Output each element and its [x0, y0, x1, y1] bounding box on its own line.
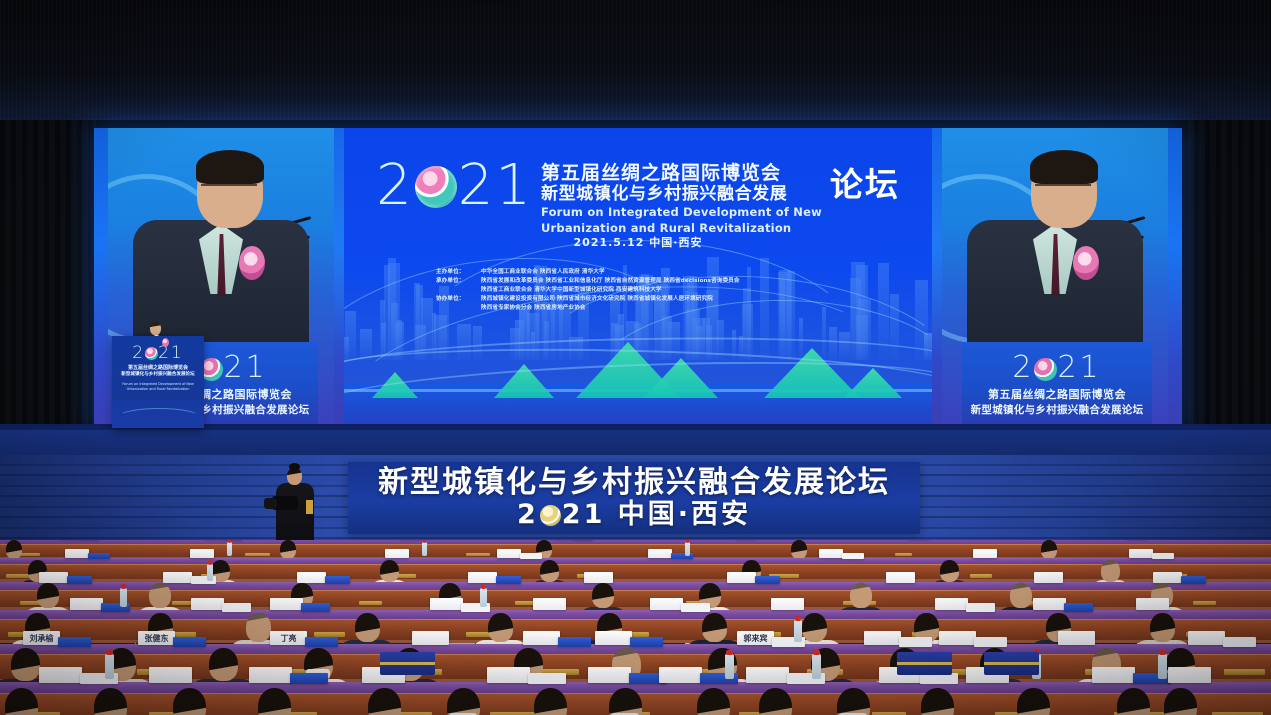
attendee-head	[488, 613, 513, 642]
attendee-head	[592, 583, 614, 608]
attendee-head	[850, 583, 872, 608]
document-folder	[1064, 603, 1093, 612]
speaker-hair	[1030, 150, 1098, 184]
attendee-head	[1010, 583, 1032, 608]
document-folder	[496, 576, 521, 584]
speaker-boutonniere	[1073, 246, 1099, 280]
photographer-hair-bun	[289, 463, 300, 471]
gift-box	[897, 652, 952, 675]
placard-blank-2	[39, 667, 82, 683]
placard-blank	[533, 598, 566, 610]
placard-blank	[1058, 631, 1095, 645]
document-folder	[88, 553, 110, 559]
placard-blank	[468, 572, 497, 583]
water-bottle	[725, 654, 734, 679]
english-title-2: Urbanization and Rural Revitalization	[541, 222, 822, 236]
podium-graphic-right: 221 第五届丝绸之路国际博览会 新型城镇化与乡村振兴融合发展论坛	[962, 342, 1152, 428]
document-folder	[630, 637, 663, 647]
water-bottle	[1158, 654, 1167, 679]
silk-road-emblem-icon	[540, 505, 561, 526]
led-stage-wall: 221 第五届丝绸之路国际博览会 新型城镇化与乡村振兴融合发展论坛 221 第五…	[94, 128, 1182, 428]
camera-lens-icon	[264, 498, 277, 509]
document-folder	[325, 576, 350, 584]
stage-curtain-left	[0, 120, 96, 460]
placard-blank	[886, 572, 915, 583]
stage-front-banner: 新型城镇化与乡村振兴融合发展论坛 221 中国·西安	[348, 462, 920, 534]
water-bottle	[794, 620, 802, 642]
attendee-head	[380, 560, 399, 582]
attendee-head	[940, 560, 959, 582]
placard-blank	[588, 667, 631, 683]
attendee-head	[6, 540, 22, 559]
paper-sheet	[681, 603, 710, 612]
attendee-head	[697, 688, 730, 715]
date-location-line: 2021.5.12 中国·西安	[344, 234, 932, 250]
placard-blank	[297, 572, 326, 583]
attendee-head	[1041, 540, 1057, 559]
podium-title-right-1: 第五届丝绸之路国际博览会	[962, 386, 1152, 402]
organizer-value: 陕西省发展和改革委员会 陕西省工业和信息化厅 陕西省自然资源管理局 陕西省dec…	[481, 277, 740, 286]
document-folder	[558, 637, 591, 647]
attendee-head	[173, 688, 206, 715]
document-folder	[173, 637, 206, 647]
placard-blank	[650, 598, 683, 610]
ceiling	[0, 0, 1271, 132]
document-folder	[1181, 576, 1206, 584]
placard-blank	[385, 549, 409, 558]
banner-year-pre: 2	[517, 499, 539, 530]
attendee-head	[149, 583, 171, 608]
organizer-line: 承办单位：陕西省发展和改革委员会 陕西省工业和信息化厅 陕西省自然资源管理局 陕…	[436, 277, 892, 286]
attendee-head	[209, 648, 238, 681]
placard-liu: 刘承榆	[23, 631, 60, 645]
year-logo: 221	[376, 160, 533, 212]
press-badge	[306, 500, 313, 514]
organizer-line: 陕西省专家协会分会 陕西省房地产业协会	[436, 304, 892, 313]
placard-blank	[595, 631, 632, 645]
forum-word: 论坛	[830, 160, 900, 202]
attendee-head	[837, 688, 870, 715]
attendee-head	[1117, 688, 1150, 715]
attendee-head	[447, 688, 480, 715]
silk-road-emblem-icon	[1034, 358, 1057, 381]
banner-year-post: 21 中国·西安	[562, 499, 751, 530]
placard-blank	[819, 549, 843, 558]
placard-blank	[1168, 667, 1211, 683]
placard-blank	[149, 667, 192, 683]
podium-year: 221	[112, 343, 204, 363]
attendee-head	[759, 688, 792, 715]
podium: 221 第五届丝绸之路国际博览会 新型城镇化与乡村振兴融合发展论坛 Forum …	[112, 336, 204, 428]
attendee-head	[1017, 688, 1050, 715]
podium-line1: 第五届丝绸之路国际博览会	[112, 364, 204, 371]
attendee-head	[368, 688, 401, 715]
water-bottle	[812, 654, 821, 679]
placard-blank	[430, 598, 463, 610]
forum-subject: 新型城镇化与乡村振兴融合发展	[541, 184, 822, 204]
podium-title-right-2: 新型城镇化与乡村振兴融合发展论坛	[962, 402, 1152, 417]
placard-blank	[39, 572, 68, 583]
expo-title: 第五届丝绸之路国际博览会	[541, 163, 822, 184]
paper-sheet	[966, 603, 995, 612]
attendee-head	[94, 688, 127, 715]
paper-sheet	[528, 673, 566, 684]
organizer-line: 陕西省工商业联合会 清华大学中国新型城镇化研究院 西安建筑科技大学	[436, 286, 892, 295]
podium-artwork	[112, 400, 204, 428]
silk-road-emblem-icon	[145, 347, 158, 360]
paper-sheet	[222, 603, 251, 612]
attendee-head	[702, 613, 727, 642]
banner-line-2: 221 中国·西安	[348, 500, 920, 530]
water-bottle	[480, 588, 487, 607]
placard-blank	[65, 549, 89, 558]
onstage-speaker-boutonniere	[162, 338, 169, 347]
document-folder	[301, 603, 330, 612]
organizer-label: 协办单位：	[436, 295, 472, 304]
placard-blank	[1136, 598, 1169, 610]
organizer-line: 协办单位：陕西城镇化建设投资有限公司 陕西省城市经济文化研究院 陕西省城镇化发展…	[436, 295, 892, 304]
placard-blank	[1092, 667, 1135, 683]
attendee-head	[802, 613, 827, 642]
placard-blank	[746, 667, 789, 683]
placard-blank	[939, 631, 976, 645]
placard-blank	[1033, 598, 1066, 610]
water-bottle	[227, 542, 232, 556]
attendee-head	[1150, 613, 1175, 642]
desk-brass-plate	[1224, 669, 1265, 675]
gift-box	[380, 652, 435, 675]
placard-blank	[487, 667, 530, 683]
organizer-label: 承办单位：	[436, 277, 472, 286]
paper-sheet	[974, 637, 1007, 647]
desk-brass-plate	[466, 553, 490, 556]
attendee-head	[5, 688, 38, 715]
attendee-head	[246, 613, 271, 642]
placard-blank	[70, 598, 103, 610]
paper-sheet	[899, 637, 932, 647]
glasses-icon	[1035, 184, 1091, 194]
organizer-value: 陕西省工商业联合会 清华大学中国新型城镇化研究院 西安建筑科技大学	[481, 286, 662, 295]
attendee-head	[921, 688, 954, 715]
document-folder	[58, 637, 91, 647]
placard-blank	[163, 572, 192, 583]
placard-blank	[659, 667, 702, 683]
glasses-icon	[201, 184, 257, 194]
placard-blank	[523, 631, 560, 645]
placard-blank	[584, 572, 613, 583]
placard-blank	[727, 572, 756, 583]
placard-blank	[771, 598, 804, 610]
desk-brass-plate	[970, 574, 992, 578]
paper-sheet	[1223, 637, 1256, 647]
desk-brass-plate	[1193, 601, 1216, 605]
water-bottle	[685, 542, 690, 556]
placard-blank	[412, 631, 449, 645]
document-folder	[305, 637, 338, 647]
desk-brass-plate	[359, 601, 382, 605]
attendee-head	[540, 560, 559, 582]
placard-blank	[1034, 572, 1063, 583]
water-bottle	[207, 564, 213, 581]
organizer-value: 陕西省专家协会分会 陕西省房地产业协会	[481, 304, 586, 313]
attendee-head	[355, 613, 380, 642]
paper-sheet	[520, 553, 542, 559]
placard-zhang: 张健东	[138, 631, 175, 645]
silk-road-emblem-icon	[415, 166, 457, 208]
photographer-body	[276, 483, 314, 545]
organizer-label	[436, 304, 472, 313]
placard-blank	[1129, 549, 1153, 558]
placard-blank	[190, 549, 214, 558]
organizer-list: 主办单位：中华全国工商业联合会 陕西省人民政府 清华大学承办单位：陕西省发展和改…	[436, 268, 892, 313]
organizer-label: 主办单位：	[436, 268, 472, 277]
podium-line2: 新型城镇化与乡村振兴融合发展论坛	[112, 371, 204, 377]
organizer-line: 主办单位：中华全国工商业联合会 陕西省人民政府 清华大学	[436, 268, 892, 277]
podium-year-right: 221	[962, 350, 1152, 385]
desk-brass-plate	[895, 553, 912, 556]
organizer-label	[436, 286, 472, 295]
placard-blank	[648, 549, 672, 558]
attendee-head	[534, 688, 567, 715]
attendee-head	[11, 648, 40, 681]
stage-curtain-right	[1183, 120, 1271, 460]
placard-ding: 丁亮	[270, 631, 307, 645]
placard-blank	[973, 549, 997, 558]
desk-brass-plate	[245, 553, 270, 556]
document-folder	[755, 576, 780, 584]
english-title-1: Forum on Integrated Development of New	[541, 206, 822, 220]
right-video-screen: 221 第五届丝绸之路国际博览会 新型城镇化与乡村振兴融合发展论坛	[942, 128, 1168, 428]
audience-seating: 刘承榆张健东丁亮郭来宾	[0, 540, 1271, 715]
attendee-head	[1101, 560, 1120, 582]
conference-hall-photo: 221 第五届丝绸之路国际博览会 新型城镇化与乡村振兴融合发展论坛 221 第五…	[0, 0, 1271, 715]
placard-guo: 郭来宾	[737, 631, 774, 645]
document-folder	[67, 576, 92, 584]
water-bottle	[105, 654, 114, 679]
paper-sheet	[1152, 553, 1174, 559]
attendee-head	[280, 540, 296, 559]
placard-blank	[1153, 572, 1182, 583]
center-headline-block: 221 第五届丝绸之路国际博览会 新型城镇化与乡村振兴融合发展 Forum on…	[344, 160, 932, 235]
placard-blank-1	[1188, 631, 1225, 645]
placard-blank	[191, 598, 224, 610]
placard-blank	[249, 667, 292, 683]
gift-box	[984, 652, 1039, 675]
water-bottle	[422, 542, 427, 556]
placard-blank	[864, 631, 901, 645]
attendee-head	[1164, 688, 1197, 715]
onstage-speaker-head	[150, 322, 161, 335]
attendee-head	[791, 540, 807, 559]
attendee-head	[609, 688, 642, 715]
podium-english: Forum on Integrated Development of New U…	[112, 382, 204, 391]
water-bottle	[120, 588, 127, 607]
speaker-boutonniere	[239, 246, 265, 280]
paper-sheet	[842, 553, 864, 559]
organizer-value: 中华全国工商业联合会 陕西省人民政府 清华大学	[481, 268, 605, 277]
placard-blank	[270, 598, 303, 610]
placard-blank	[935, 598, 968, 610]
speaker-hair	[196, 150, 264, 184]
organizer-value: 陕西城镇化建设投资有限公司 陕西省城市经济文化研究院 陕西省城镇化发展人居环境研…	[481, 295, 713, 304]
desk-brass-plate	[397, 574, 416, 578]
placard-blank	[497, 549, 521, 558]
document-folder	[290, 673, 328, 684]
center-led-panel: 221 第五届丝绸之路国际博览会 新型城镇化与乡村振兴融合发展 Forum on…	[344, 128, 932, 428]
attendee-head	[258, 688, 291, 715]
attendee-head	[37, 583, 59, 608]
banner-line-1: 新型城镇化与乡村振兴融合发展论坛	[348, 462, 920, 500]
